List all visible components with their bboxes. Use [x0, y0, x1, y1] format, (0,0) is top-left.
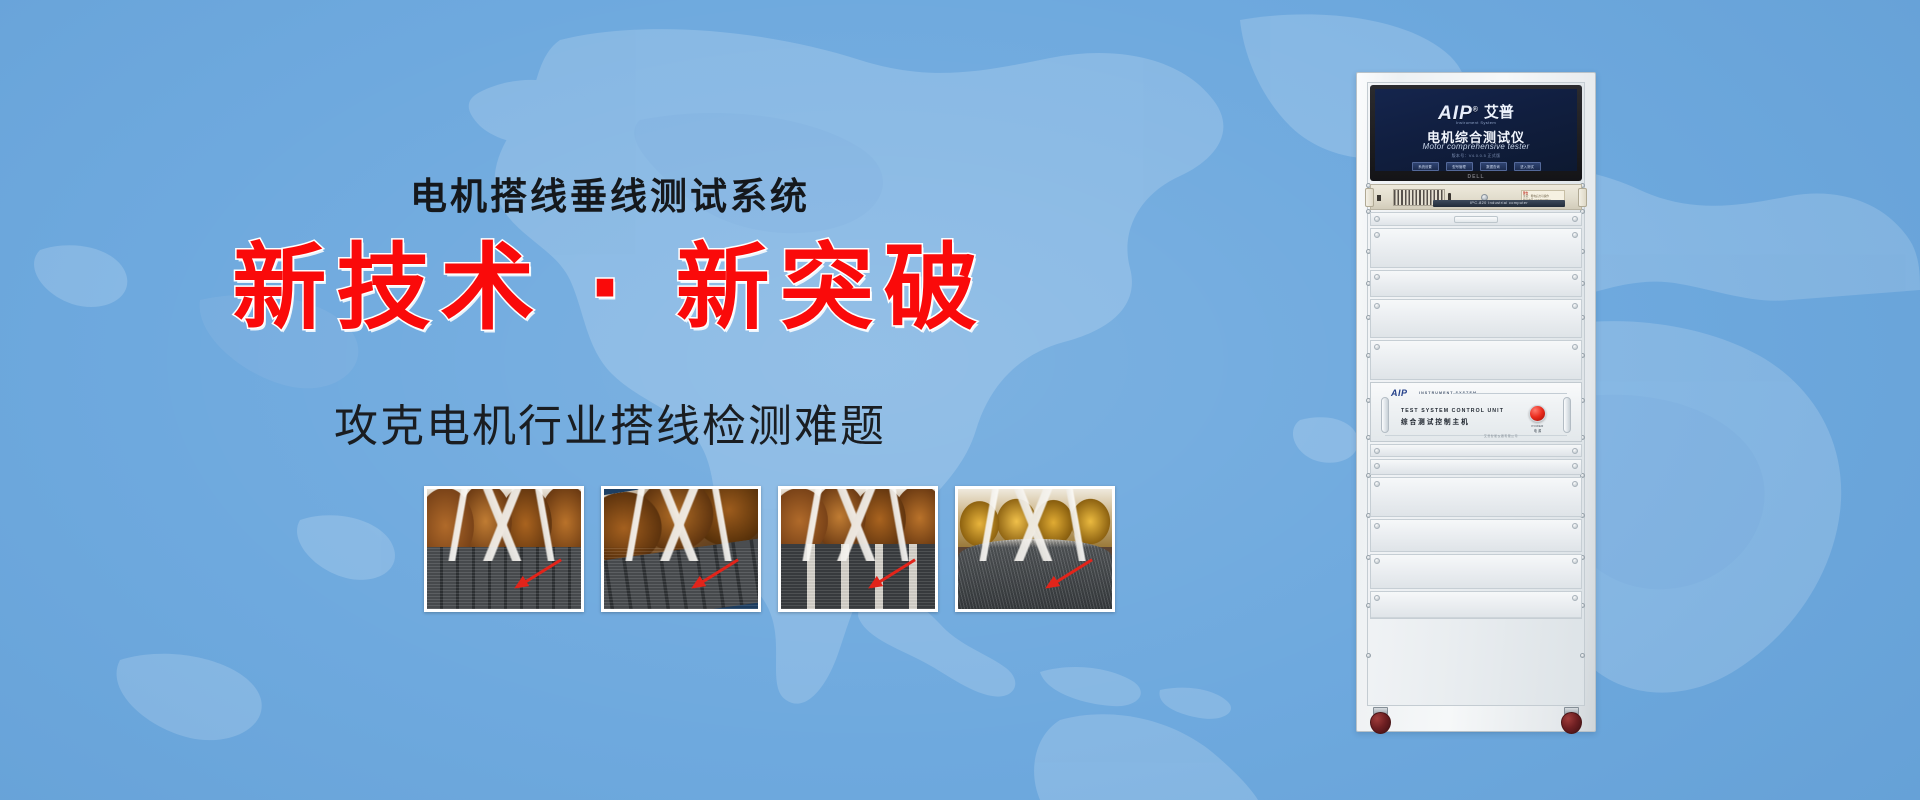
lacing-cord-graphic — [958, 489, 1112, 561]
industrial-computer-unit[interactable]: 警告 注意：断电后方可操作 额定电压 AC220V 50Hz IPC-820 I… — [1370, 184, 1582, 210]
product-photo-1[interactable] — [424, 486, 584, 612]
rack-blank-panel-3[interactable] — [1370, 299, 1582, 338]
rack-drawer-panel[interactable] — [1370, 212, 1582, 226]
rack-blank-panel-8[interactable] — [1370, 519, 1582, 552]
screen-button-data-query[interactable]: 数据查询 — [1480, 162, 1507, 171]
caster-wheel — [1370, 712, 1391, 734]
product-photo-2[interactable] — [601, 486, 761, 612]
power-button[interactable] — [1529, 405, 1546, 422]
cabinet-inner-rack: AIP®艾普 Instrument System 电机综合测试仪 Motor c… — [1367, 82, 1585, 706]
control-unit-title-en: TEST SYSTEM CONTROL UNIT — [1401, 408, 1504, 414]
control-unit-divider — [1453, 393, 1567, 394]
rack-blank-panel-9[interactable] — [1370, 554, 1582, 589]
hero-subtitle-bottom: 攻克电机行业搭线检测难题 — [0, 390, 1220, 454]
drawer-handle[interactable] — [1454, 216, 1498, 223]
product-photo-4[interactable] — [955, 486, 1115, 612]
hero-headline: 新技术 · 新突破 — [0, 236, 1220, 341]
banner-root: 电机搭线垂线测试系统 新技术 · 新突破 攻克电机行业搭线检测难题 — [0, 0, 1920, 800]
product-photo-strip — [424, 486, 1164, 614]
lacing-cord-graphic — [781, 489, 935, 561]
ipc-reset-button[interactable] — [1377, 195, 1381, 201]
screen-title-en: Motor comprehensive tester — [1375, 142, 1577, 151]
hero-subtitle-top: 电机搭线垂线测试系统 — [0, 166, 1220, 220]
rack-blank-panel-1[interactable] — [1370, 228, 1582, 268]
monitor-screen[interactable]: AIP®艾普 Instrument System 电机综合测试仪 Motor c… — [1375, 89, 1577, 171]
screen-button-row: 系统设置 型号管理 数据查询 进入测试 — [1375, 162, 1577, 171]
caster-wheel-left — [1370, 707, 1391, 734]
ipc-handle-left[interactable] — [1365, 188, 1374, 207]
test-rack-cabinet[interactable]: AIP®艾普 Instrument System 电机综合测试仪 Motor c… — [1356, 72, 1596, 732]
rack-blank-panel-5[interactable] — [1370, 444, 1582, 457]
brand-cn-label: 艾普 — [1484, 101, 1514, 122]
caster-wheel — [1561, 712, 1582, 734]
test-system-control-unit[interactable]: AIP INSTRUMENT SYSTEM TEST SYSTEM CONTRO… — [1370, 382, 1582, 442]
control-unit-handle-left[interactable] — [1381, 397, 1389, 433]
rack-blank-panel-2[interactable] — [1370, 270, 1582, 297]
lacing-cord-graphic — [604, 489, 758, 561]
caster-wheel-right — [1561, 707, 1582, 734]
screen-button-model-manage[interactable]: 型号管理 — [1446, 162, 1473, 171]
power-button-label-cn: 电 源 — [1524, 428, 1551, 433]
screen-button-enter-test[interactable]: 进入测试 — [1514, 162, 1541, 171]
rack-blank-panel-10[interactable] — [1370, 591, 1582, 619]
monitor-vendor-logo: DELL — [1370, 174, 1582, 180]
control-unit-title-cn: 综合测试控制主机 — [1401, 416, 1470, 426]
rack-blank-panel-4[interactable] — [1370, 340, 1582, 380]
product-photo-3[interactable] — [778, 486, 938, 612]
control-unit-footer-text: 艾普智能仪器有限公司 — [1441, 434, 1561, 438]
hero-text-block: 电机搭线垂线测试系统 新技术 · 新突破 攻克电机行业搭线检测难题 — [0, 0, 1220, 800]
lacing-cord-graphic — [427, 489, 581, 561]
ipc-handle-right[interactable] — [1578, 188, 1587, 207]
ipc-model-strip: IPC-820 Industrial computer — [1433, 200, 1565, 207]
monitor-bezel: AIP®艾普 Instrument System 电机综合测试仪 Motor c… — [1370, 85, 1582, 181]
screen-version-text: 版本号：V4.0.0.5 正式版 — [1375, 153, 1577, 159]
control-unit-aip-logo: AIP — [1391, 388, 1408, 398]
screen-button-system-settings[interactable]: 系统设置 — [1412, 162, 1439, 171]
rack-blank-panel-7[interactable] — [1370, 477, 1582, 517]
rack-blank-panel-6[interactable] — [1370, 459, 1582, 475]
brand-subtitle: Instrument System — [1375, 120, 1577, 125]
control-unit-handle-right[interactable] — [1563, 397, 1571, 433]
